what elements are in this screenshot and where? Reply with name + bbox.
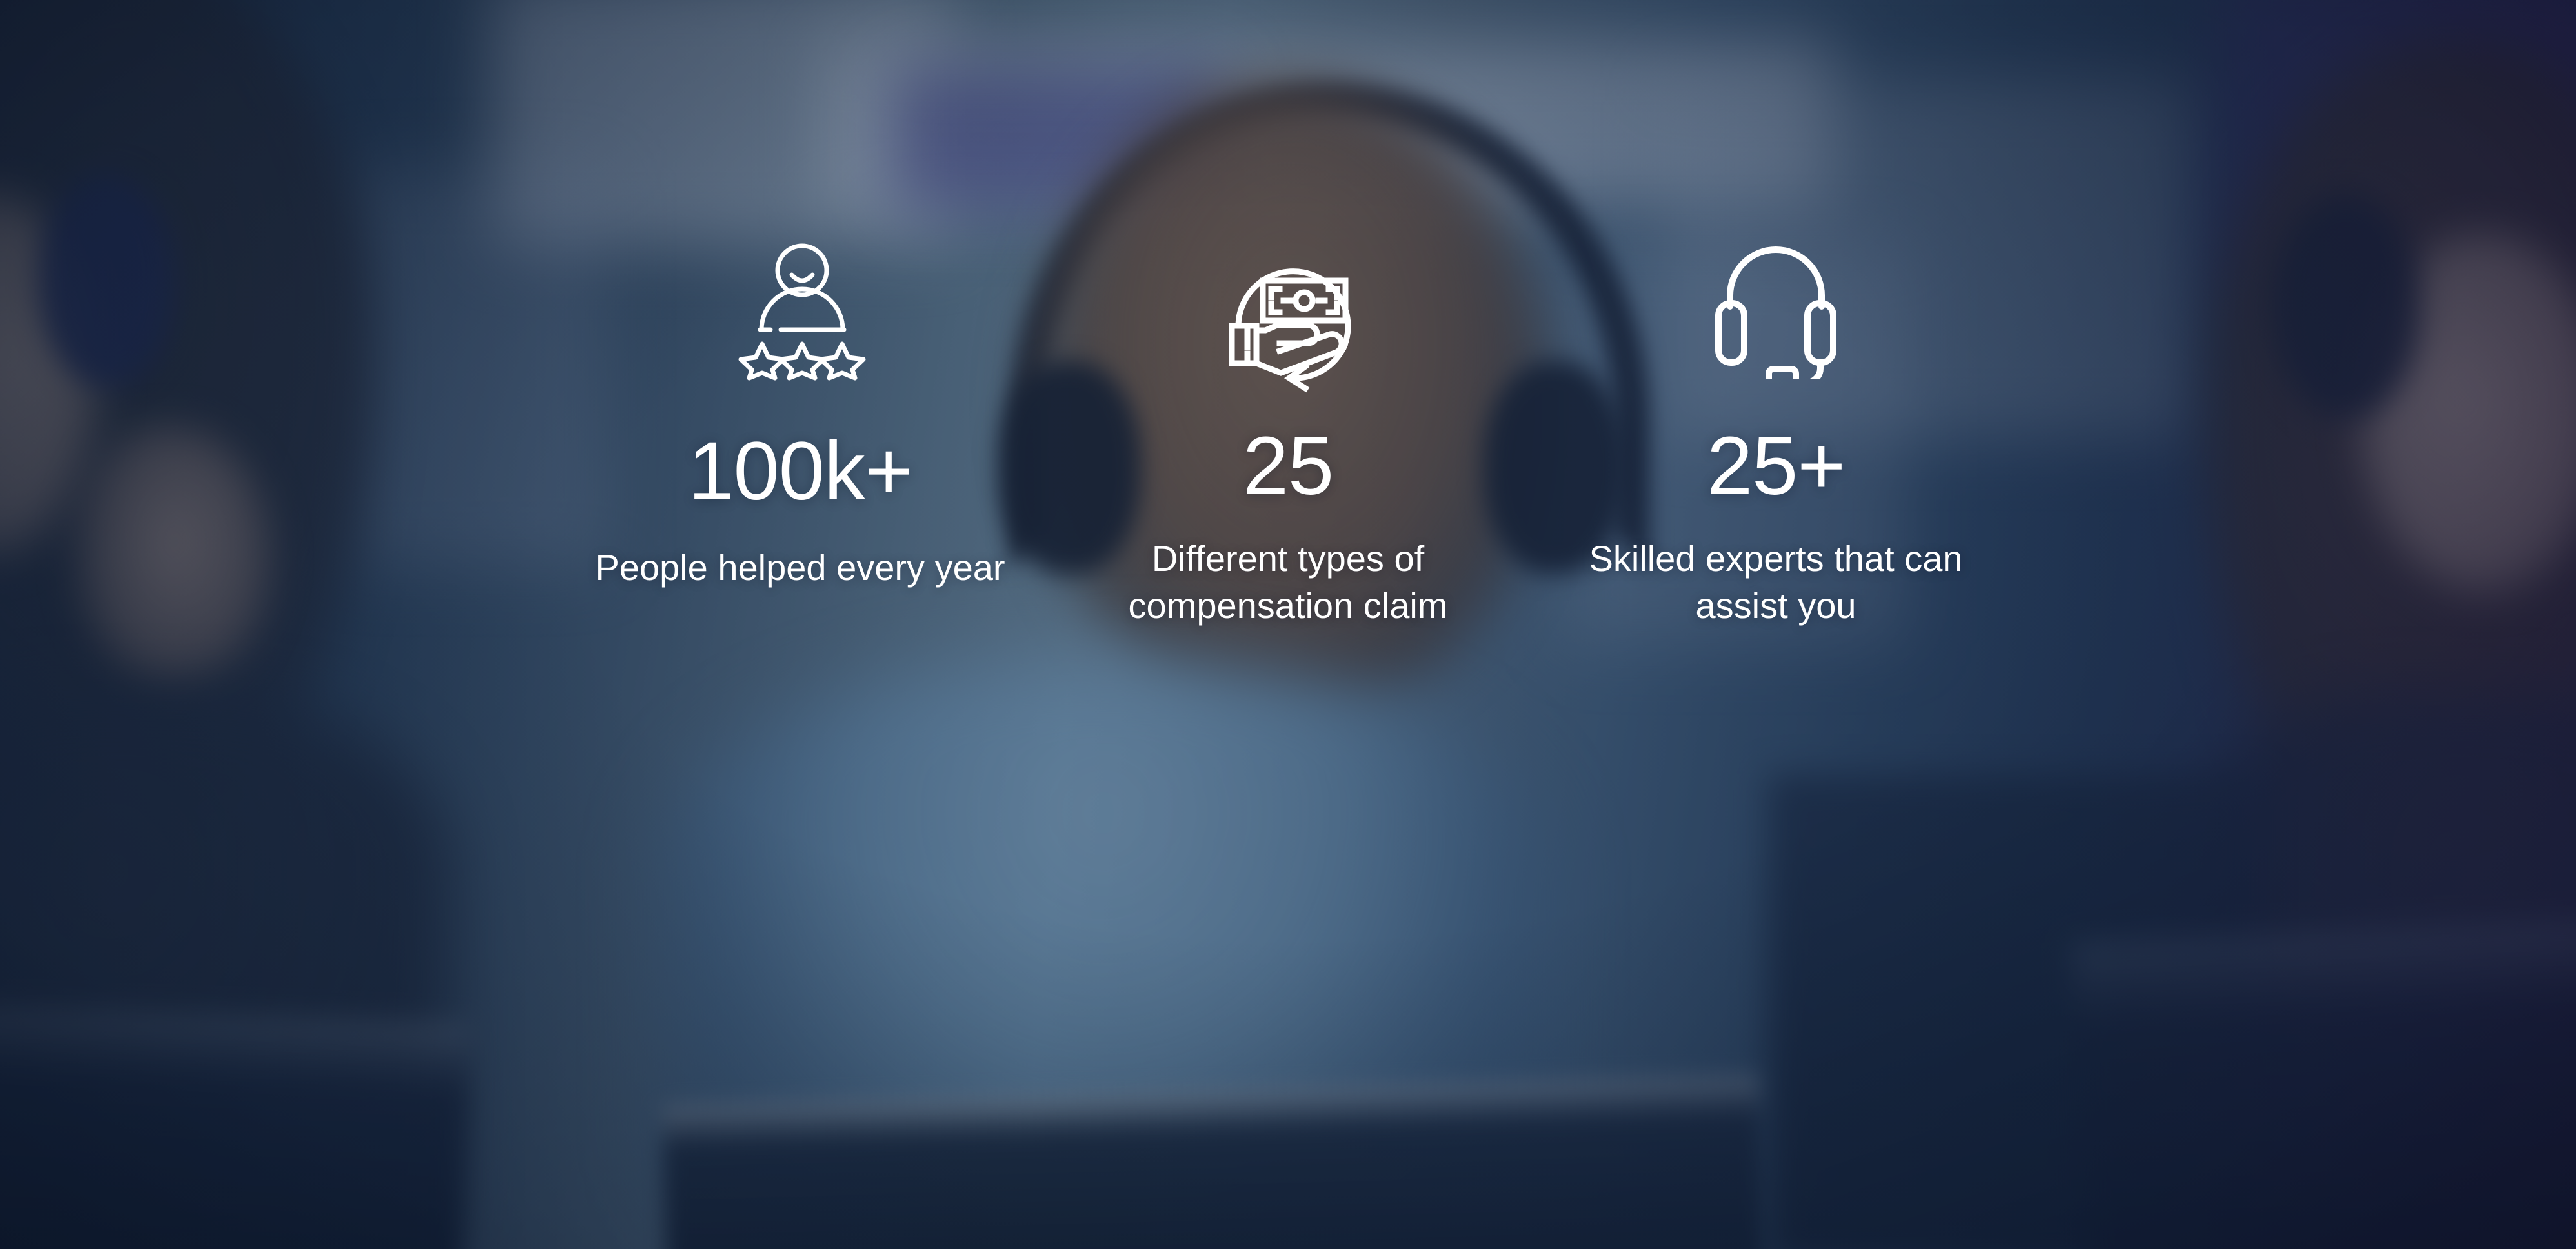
headset-icon xyxy=(1550,240,2002,421)
stats-row: 100k+ People helped every year xyxy=(0,0,2576,1249)
money-in-hand-refresh-icon xyxy=(1062,240,1514,421)
stat-item-people-helped: 100k+ People helped every year xyxy=(574,240,1026,591)
stat-item-claim-types: 25 Different types of compensation claim xyxy=(1062,240,1514,630)
stat-label: Different types of compensation claim xyxy=(1062,535,1514,630)
stat-label: People helped every year xyxy=(574,544,1026,592)
stat-label: Skilled experts that can assist you xyxy=(1550,535,2002,630)
person-rating-stars-icon xyxy=(574,240,1026,421)
stat-value: 100k+ xyxy=(574,430,1026,514)
stat-value: 25+ xyxy=(1550,425,2002,509)
stats-banner-section: 100k+ People helped every year xyxy=(0,0,2576,1249)
stat-value: 25 xyxy=(1062,425,1514,509)
stat-item-skilled-experts: 25+ Skilled experts that can assist you xyxy=(1550,240,2002,630)
